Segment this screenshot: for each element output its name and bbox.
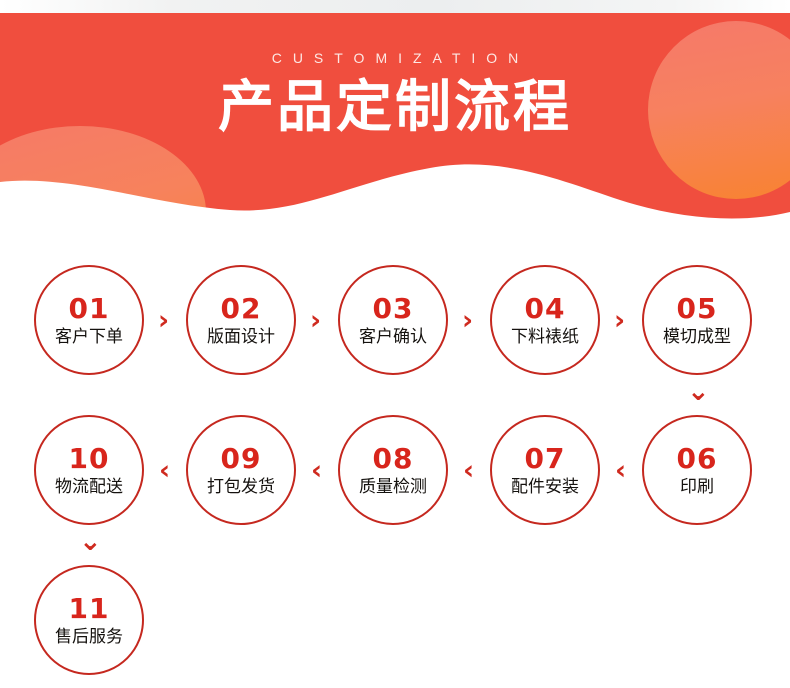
step-node-01[interactable]: 01 客户下单	[34, 265, 144, 375]
step-number: 05	[677, 295, 718, 323]
connector-chevron-left-icon: ‹	[615, 457, 626, 484]
wave-divider	[0, 146, 790, 240]
step-number: 07	[525, 445, 566, 473]
process-flow-diagram: 01 客户下单 › 02 版面设计 › 03 客户确认 › 04 下料裱纸 › …	[0, 240, 790, 688]
step-number: 11	[69, 595, 110, 623]
step-label: 版面设计	[207, 329, 275, 346]
step-node-07[interactable]: 07 配件安装	[490, 415, 600, 525]
step-node-10[interactable]: 10 物流配送	[34, 415, 144, 525]
connector-chevron-left-icon: ‹	[159, 457, 170, 484]
connector-chevron-down-icon: ⌄	[79, 528, 102, 555]
connector-chevron-right-icon: ›	[614, 307, 625, 334]
step-node-05[interactable]: 05 模切成型	[642, 265, 752, 375]
step-node-03[interactable]: 03 客户确认	[338, 265, 448, 375]
connector-chevron-down-icon: ⌄	[687, 378, 710, 405]
step-number: 01	[69, 295, 110, 323]
connector-chevron-right-icon: ›	[158, 307, 169, 334]
step-number: 10	[69, 445, 110, 473]
step-number: 03	[373, 295, 414, 323]
step-node-11[interactable]: 11 售后服务	[34, 565, 144, 675]
step-label: 客户下单	[55, 329, 123, 346]
customization-process-infographic: CUSTOMIZATION 产品定制流程 01 客户下单 › 02 版面设计 ›…	[0, 0, 790, 688]
step-label: 模切成型	[663, 329, 731, 346]
connector-chevron-right-icon: ›	[462, 307, 473, 334]
connector-chevron-left-icon: ‹	[311, 457, 322, 484]
step-node-02[interactable]: 02 版面设计	[186, 265, 296, 375]
step-label: 质量检测	[359, 479, 427, 496]
step-node-09[interactable]: 09 打包发货	[186, 415, 296, 525]
hero-text-block: CUSTOMIZATION 产品定制流程	[0, 51, 790, 138]
step-label: 打包发货	[207, 479, 275, 496]
connector-chevron-right-icon: ›	[310, 307, 321, 334]
step-label: 配件安装	[511, 479, 579, 496]
step-number: 02	[221, 295, 262, 323]
hero-eyebrow: CUSTOMIZATION	[0, 51, 790, 65]
step-number: 08	[373, 445, 414, 473]
step-label: 客户确认	[359, 329, 427, 346]
step-label: 物流配送	[55, 479, 123, 496]
step-label: 下料裱纸	[511, 329, 579, 346]
hero-banner: CUSTOMIZATION 产品定制流程	[0, 13, 790, 240]
step-node-04[interactable]: 04 下料裱纸	[490, 265, 600, 375]
top-strip	[0, 0, 790, 13]
step-node-06[interactable]: 06 印刷	[642, 415, 752, 525]
step-label: 印刷	[680, 479, 714, 496]
connector-chevron-left-icon: ‹	[463, 457, 474, 484]
page-title: 产品定制流程	[0, 79, 790, 138]
step-node-08[interactable]: 08 质量检测	[338, 415, 448, 525]
step-number: 06	[677, 445, 718, 473]
step-number: 09	[221, 445, 262, 473]
step-label: 售后服务	[55, 629, 123, 646]
step-number: 04	[525, 295, 566, 323]
